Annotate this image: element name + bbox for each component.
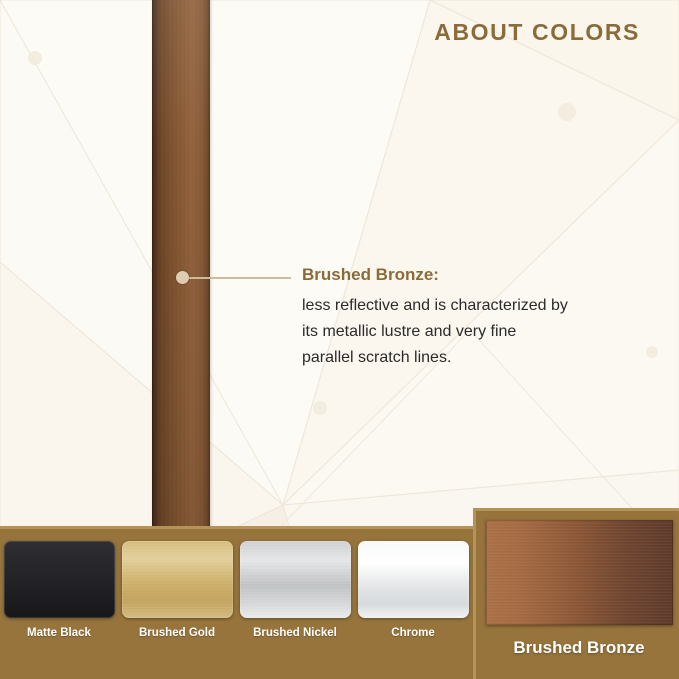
infographic-canvas: ABOUT COLORS Brushed Bronze: less reflec… — [0, 0, 679, 679]
swatch-chip-brushed-gold[interactable] — [122, 541, 233, 618]
swatch-label-brushed-gold: Brushed Gold — [139, 627, 215, 639]
brushed-bronze-post — [152, 0, 210, 529]
swatch-chip-brushed-nickel[interactable] — [240, 541, 351, 618]
swatch-item-brushed-gold[interactable]: Brushed Gold — [118, 541, 236, 639]
featured-swatch-panel[interactable]: Brushed Bronze — [473, 508, 679, 679]
description-line-2: its metallic lustre and very fine — [302, 319, 652, 345]
page-title: ABOUT COLORS — [434, 19, 640, 46]
swatch-chip-chrome[interactable] — [358, 541, 469, 618]
swatch-list: Matte Black Brushed Gold Brushed Nickel … — [0, 541, 473, 639]
swatch-item-matte-black[interactable]: Matte Black — [0, 541, 118, 639]
description-heading: Brushed Bronze: — [302, 265, 652, 285]
callout-dot — [176, 271, 189, 284]
swatch-label-chrome: Chrome — [391, 627, 434, 639]
description-line-3: parallel scratch lines. — [302, 345, 652, 371]
swatch-item-chrome[interactable]: Chrome — [354, 541, 472, 639]
swatch-chip-matte-black[interactable] — [4, 541, 115, 618]
swatch-label-matte-black: Matte Black — [27, 627, 91, 639]
callout-line — [186, 277, 291, 279]
swatch-label-brushed-bronze: Brushed Bronze — [513, 638, 644, 658]
description-body: less reflective and is characterized by … — [302, 293, 652, 371]
post-sheen-overlay — [152, 0, 210, 529]
description-line-1: less reflective and is characterized by — [302, 293, 652, 319]
description-block: Brushed Bronze: less reflective and is c… — [302, 265, 652, 371]
swatch-item-brushed-nickel[interactable]: Brushed Nickel — [236, 541, 354, 639]
swatch-chip-brushed-bronze[interactable] — [486, 520, 673, 625]
swatch-label-brushed-nickel: Brushed Nickel — [253, 627, 337, 639]
